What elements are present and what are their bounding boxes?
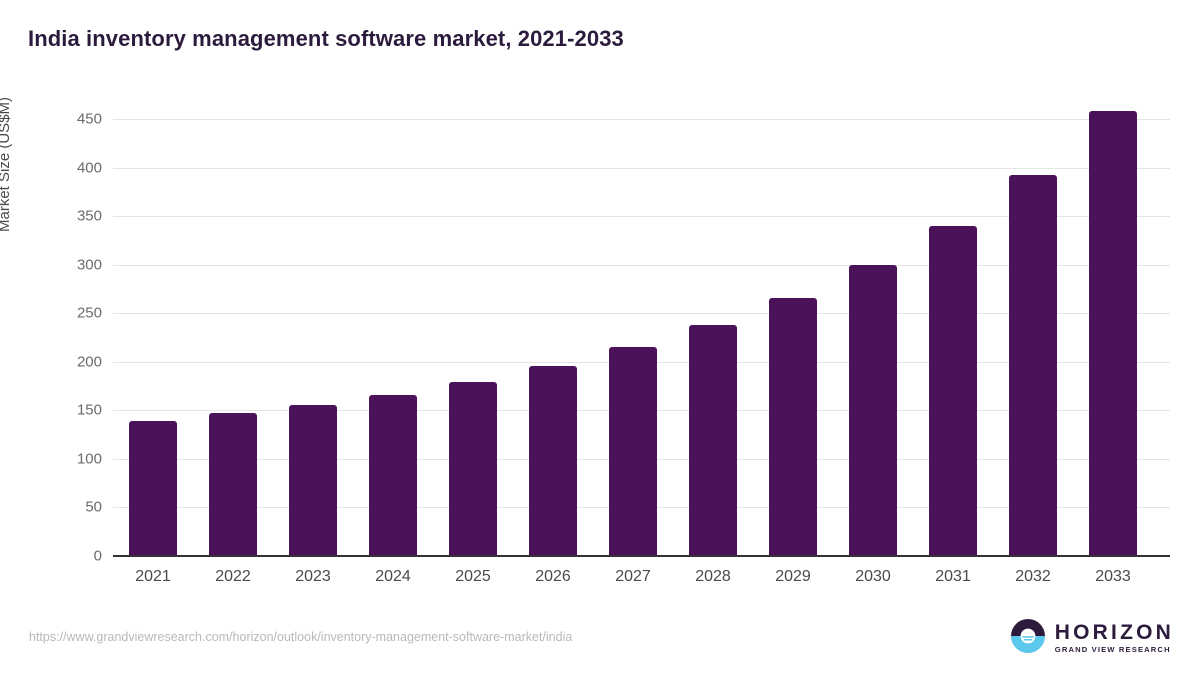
bar[interactable] <box>849 265 897 556</box>
bar[interactable] <box>929 226 977 556</box>
bar-series <box>113 100 1170 556</box>
bar[interactable] <box>689 325 737 556</box>
bar[interactable] <box>209 413 257 556</box>
y-axis-tick-label: 100 <box>42 450 102 467</box>
x-axis-tick-label: 2024 <box>353 568 433 586</box>
y-axis-tick-label: 250 <box>42 305 102 322</box>
bar[interactable] <box>1009 175 1057 556</box>
x-axis-tick-label: 2031 <box>913 568 993 586</box>
y-axis-tick-label: 350 <box>42 208 102 225</box>
x-axis-line <box>113 555 1170 557</box>
bar[interactable] <box>369 395 417 556</box>
x-axis-tick-label: 2021 <box>113 568 193 586</box>
y-axis-tick-label: 200 <box>42 353 102 370</box>
bar[interactable] <box>769 298 817 556</box>
bar[interactable] <box>129 421 177 556</box>
source-url-text: https://www.grandviewresearch.com/horizo… <box>29 630 572 644</box>
bar[interactable] <box>449 382 497 556</box>
x-axis-tick-label: 2033 <box>1073 568 1153 586</box>
y-axis-tick-label: 0 <box>42 548 102 565</box>
bar[interactable] <box>289 405 337 556</box>
x-axis-tick-label: 2032 <box>993 568 1073 586</box>
bar[interactable] <box>529 366 577 556</box>
logo-tagline: GRAND VIEW RESEARCH <box>1055 646 1174 654</box>
x-axis-tick-label: 2028 <box>673 568 753 586</box>
y-axis-tick-label: 400 <box>42 159 102 176</box>
chart-canvas: India inventory management software mark… <box>0 0 1200 675</box>
x-axis-tick-label: 2030 <box>833 568 913 586</box>
horizon-logo: HORIZON GRAND VIEW RESEARCH <box>1010 618 1174 658</box>
y-axis-tick-label: 300 <box>42 256 102 273</box>
x-axis-tick-label: 2022 <box>193 568 273 586</box>
horizon-logo-mark-icon <box>1010 618 1046 659</box>
y-axis-tick-label: 150 <box>42 402 102 419</box>
x-axis-tick-label: 2025 <box>433 568 513 586</box>
y-axis-tick-label: 450 <box>42 111 102 128</box>
x-axis-tick-label: 2029 <box>753 568 833 586</box>
y-axis-title: Market Size (US$M) <box>0 97 13 232</box>
bar[interactable] <box>1089 111 1137 556</box>
chart-title: India inventory management software mark… <box>28 26 624 52</box>
y-axis-tick-label: 50 <box>42 499 102 516</box>
x-axis-tick-label: 2027 <box>593 568 673 586</box>
horizon-logo-text: HORIZON GRAND VIEW RESEARCH <box>1055 622 1174 654</box>
logo-wordmark: HORIZON <box>1055 622 1174 643</box>
x-axis-tick-label: 2026 <box>513 568 593 586</box>
x-axis-tick-label: 2023 <box>273 568 353 586</box>
bar[interactable] <box>609 347 657 556</box>
